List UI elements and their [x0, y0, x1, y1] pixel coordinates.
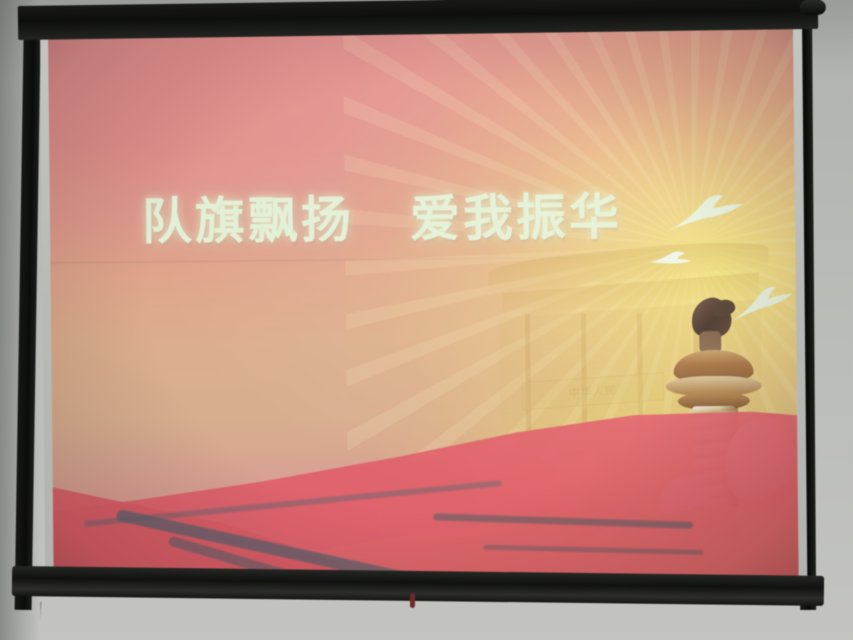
screen-pull-hook-icon[interactable] [410, 594, 415, 608]
roller-end-cap-icon [800, 0, 826, 15]
projection-screen[interactable]: 中华人民 [14, 4, 826, 614]
photo-scene: 中华人民 [0, 0, 853, 640]
slide-title: 队旗飘扬 爱我振华 [142, 176, 743, 254]
screen-left-rail [15, 10, 41, 610]
projected-slide: 中华人民 [48, 27, 799, 588]
slide-title-right: 爱我振华 [410, 177, 623, 251]
slide-title-left: 队旗飘扬 [142, 180, 355, 254]
dove-icon [648, 249, 693, 268]
